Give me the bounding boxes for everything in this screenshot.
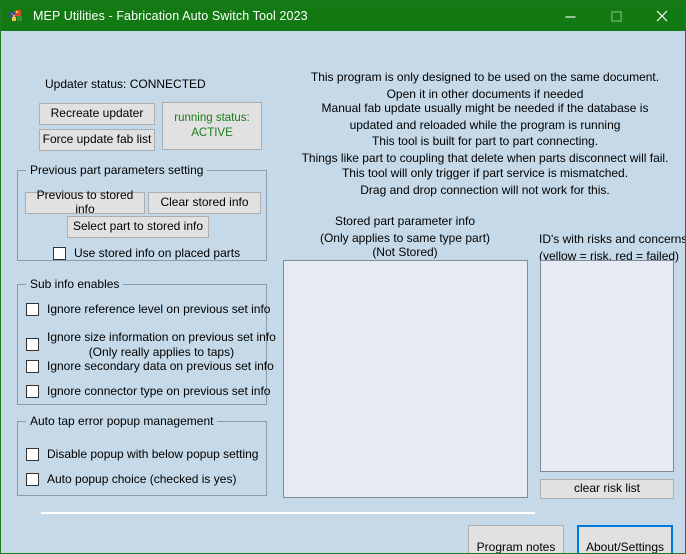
stored-part-parameter-listbox[interactable] [283,260,528,498]
auto-tap-error-popup-group-title: Auto tap error popup management [26,414,217,428]
info-paragraph-4: This tool will only trigger if part serv… [289,165,681,198]
checkbox-box[interactable] [26,303,39,316]
checkbox-box[interactable] [26,473,39,486]
risk-id-listbox[interactable] [540,260,674,472]
sub-info-enables-group-title: Sub info enables [26,277,123,291]
running-status-line1: running status: [174,111,249,126]
ignore-secondary-data-checkbox[interactable]: Ignore secondary data on previous set in… [26,359,274,374]
checkbox-box[interactable] [26,448,39,461]
footer-separator [41,512,535,514]
use-stored-info-label: Use stored info on placed parts [74,246,240,261]
checkbox-box[interactable] [26,385,39,398]
running-status-line2: ACTIVE [191,126,233,141]
clear-risk-list-button[interactable]: clear risk list [540,479,674,499]
use-stored-info-checkbox[interactable]: Use stored info on placed parts [53,246,240,261]
auto-popup-choice-label: Auto popup choice (checked is yes) [47,472,236,487]
ignore-connector-type-checkbox[interactable]: Ignore connector type on previous set in… [26,384,270,399]
about-settings-button[interactable]: About/Settings [577,525,673,554]
window-title: MEP Utilities - Fabrication Auto Switch … [33,9,308,23]
previous-to-stored-info-button[interactable]: Previous to stored info [25,192,145,214]
stored-panel-subheader: (Not Stored) [283,244,527,261]
recreate-updater-button[interactable]: Recreate updater [39,103,155,125]
checkbox-box[interactable] [26,360,39,373]
checkbox-box[interactable] [53,247,66,260]
auto-popup-choice-checkbox[interactable]: Auto popup choice (checked is yes) [26,472,236,487]
disable-popup-label: Disable popup with below popup setting [47,447,258,462]
disable-popup-checkbox[interactable]: Disable popup with below popup setting [26,447,258,462]
ignore-size-information-checkbox[interactable]: Ignore size information on previous set … [26,330,276,360]
updater-status-label: Updater status: CONNECTED [45,76,206,92]
close-icon[interactable] [639,1,685,31]
ignore-secondary-data-label: Ignore secondary data on previous set in… [47,359,274,374]
titlebar: MEP Utilities - Fabrication Auto Switch … [1,1,685,31]
running-status-box: running status: ACTIVE [162,102,262,150]
info-paragraph-1: This program is only designed to be used… [289,69,681,102]
app-window: MEP Utilities - Fabrication Auto Switch … [0,0,686,554]
ignore-reference-level-checkbox[interactable]: Ignore reference level on previous set i… [26,302,270,317]
ignore-connector-type-label: Ignore connector type on previous set in… [47,384,270,399]
clear-stored-info-button[interactable]: Clear stored info [148,192,261,214]
force-update-fab-list-button[interactable]: Force update fab list [39,129,155,151]
program-notes-button[interactable]: Program notes [468,525,564,554]
select-part-to-stored-info-button[interactable]: Select part to stored info [67,216,209,238]
window-controls [547,1,685,31]
stored-panel-header: Stored part parameter info (Only applies… [283,213,527,246]
info-paragraph-2: Manual fab update usually might be neede… [289,100,681,133]
app-icon [9,8,25,24]
ignore-size-information-label: Ignore size information on previous set … [47,330,276,360]
minimize-icon[interactable] [547,1,593,31]
ignore-reference-level-label: Ignore reference level on previous set i… [47,302,270,317]
previous-part-parameters-group-title: Previous part parameters setting [26,163,207,177]
client-area: Updater status: CONNECTED Recreate updat… [1,31,685,553]
checkbox-box[interactable] [26,338,39,351]
maximize-icon[interactable] [593,1,639,31]
info-paragraph-3: This tool is built for part to part conn… [289,133,681,166]
